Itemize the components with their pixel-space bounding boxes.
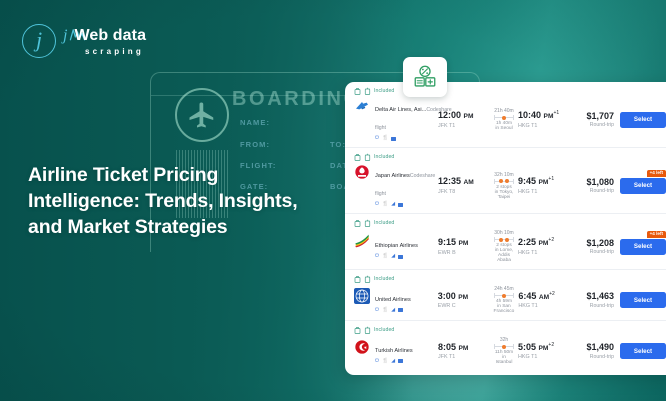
action-cell: +4 leftSelect	[620, 239, 666, 255]
stop-dot	[499, 179, 503, 183]
amenities-row: ⏻🍴◢	[375, 308, 411, 313]
route-bar	[494, 293, 515, 298]
meal-icon: 🍴	[382, 136, 388, 141]
meal-icon: 🍴	[382, 359, 388, 364]
seats-left-badge: +4 left	[647, 170, 666, 178]
wifi-icon: ◢	[391, 359, 395, 364]
arrival-day-offset: +1	[548, 176, 554, 182]
video-icon	[398, 203, 403, 207]
departure-airport: JFK T8	[438, 189, 490, 195]
power-icon: ⏻	[375, 308, 379, 313]
flight-duration: 24h 45m	[494, 286, 515, 292]
stop-dot	[502, 345, 506, 349]
included-label: Included	[374, 327, 394, 333]
seats-left-badge: +4 left	[647, 231, 666, 239]
arrival-ampm: PM	[539, 345, 549, 352]
price-cell: $1,463Round-trip	[570, 291, 620, 308]
flight-duration: 30h 10m	[494, 230, 514, 236]
logo-wordmark: j Web data scraping	[63, 27, 146, 56]
jal-logo-icon	[354, 164, 370, 180]
airline-name: Turkish Airlines	[375, 348, 413, 354]
logo-secondary-text: scraping	[85, 48, 146, 56]
trip-type: Round-trip	[570, 354, 614, 360]
arrival-day-offset: +2	[548, 342, 554, 348]
action-cell: +4 leftSelect	[620, 178, 666, 194]
amenities-row: ⏻🍴◢	[375, 359, 413, 364]
departure-ampm: PM	[459, 345, 469, 352]
arrival-cell: 6:45 AM+2HKG T1	[518, 291, 570, 309]
stop-dot	[505, 179, 509, 183]
stop-dot	[502, 116, 506, 120]
baggage-included-line: Included	[354, 326, 666, 334]
select-button[interactable]: Select	[620, 239, 666, 255]
price-amount: $1,707	[570, 111, 614, 121]
airline-cell: Delta Air Lines, Asi...Codeshare flight⏻…	[354, 98, 438, 141]
arrival-day-offset: +2	[548, 237, 554, 243]
united-logo-icon	[354, 288, 370, 304]
route-bar	[494, 237, 514, 242]
route-bar	[494, 344, 514, 349]
arrival-time: 2:25 PM+2	[518, 237, 570, 248]
airline-name: Ethiopian Airlines	[375, 243, 418, 249]
select-button[interactable]: Select	[620, 178, 666, 194]
stops-detail: 2 stops in Tokyo, Taipei	[494, 185, 514, 200]
stops-detail: 4h 59m in San Francisco	[494, 299, 515, 314]
departure-time: 12:00 PM	[438, 110, 490, 121]
calculator-glyph	[412, 64, 438, 90]
meal-icon: 🍴	[382, 202, 388, 207]
airline-name: United Airlines	[375, 297, 411, 303]
checked-bag-icon	[364, 219, 371, 227]
flight-row[interactable]: IncludedJapan AirlinesCodeshare flight⏻🍴…	[345, 148, 666, 214]
departure-cell: 3:00 PMEWR C	[438, 291, 490, 309]
carryon-bag-icon	[354, 326, 361, 334]
departure-ampm: PM	[459, 240, 469, 247]
amenities-row: ⏻🍴	[375, 136, 438, 141]
trip-type: Round-trip	[570, 303, 614, 309]
action-cell: Select	[620, 112, 666, 128]
wifi-icon: ◢	[391, 308, 395, 313]
carryon-bag-icon	[354, 219, 361, 227]
arrival-airport: HKG T1	[518, 189, 570, 195]
departure-ampm: PM	[458, 294, 468, 301]
included-label: Included	[374, 220, 394, 226]
video-icon	[398, 255, 403, 259]
departure-airport: JFK T1	[438, 123, 490, 129]
checked-bag-icon	[364, 87, 371, 95]
flight-results-panel[interactable]: IncludedDelta Air Lines, Asi...Codeshare…	[345, 82, 666, 375]
airline-cell: United Airlines⏻🍴◢	[354, 288, 438, 313]
brand-logo[interactable]: j j Web data scraping	[22, 24, 146, 58]
departure-cell: 8:05 PMJFK T1	[438, 342, 490, 360]
duration-cell: 30h 10m2 stops in Lome, Addis Ababa	[490, 230, 518, 263]
flight-row[interactable]: IncludedDelta Air Lines, Asi...Codeshare…	[345, 82, 666, 148]
stops-detail: 2 stops in Lome, Addis Ababa	[494, 243, 514, 263]
trip-type: Round-trip	[570, 122, 614, 128]
baggage-included-line: Included	[354, 219, 666, 227]
arrival-ampm: AM	[539, 294, 549, 301]
arrival-time: 9:45 PM+1	[518, 176, 570, 187]
select-button[interactable]: Select	[620, 292, 666, 308]
checked-bag-icon	[364, 326, 371, 334]
route-bar	[494, 179, 514, 184]
video-icon	[398, 308, 403, 312]
departure-time: 3:00 PM	[438, 291, 490, 302]
arrival-cell: 2:25 PM+2HKG T1	[518, 237, 570, 255]
arrival-airport: HKG T1	[518, 250, 570, 256]
page-title: Airline Ticket Pricing Intelligence: Tre…	[28, 163, 328, 241]
departure-time: 9:15 PM	[438, 237, 490, 248]
departure-airport: JFK T1	[438, 354, 490, 360]
arrival-day-offset: +2	[549, 291, 555, 297]
departure-airport: EWR C	[438, 303, 490, 309]
stop-dot	[499, 238, 503, 242]
checked-bag-icon	[364, 153, 371, 161]
price-cell: $1,208Round-trip	[570, 238, 620, 255]
power-icon: ⏻	[375, 136, 379, 141]
duration-cell: 32h11h 50m in Istanbul	[490, 337, 518, 365]
arrival-airport: HKG T1	[518, 303, 570, 309]
logo-secondary-j-icon: j	[63, 28, 67, 44]
amenities-row: ⏻🍴◢	[375, 254, 418, 259]
price-amount: $1,080	[570, 177, 614, 187]
power-icon: ⏻	[375, 254, 379, 259]
arrival-ampm: PM	[544, 113, 554, 120]
action-cell: Select	[620, 292, 666, 308]
flight-duration: 32h 10m	[494, 172, 514, 178]
carryon-bag-icon	[354, 87, 361, 95]
price-cell: $1,707Round-trip	[570, 111, 620, 128]
price-cell: $1,490Round-trip	[570, 342, 620, 359]
trip-type: Round-trip	[570, 249, 614, 255]
amenities-row: ⏻🍴◢	[375, 202, 438, 207]
arrival-cell: 9:45 PM+1HKG T1	[518, 176, 570, 194]
baggage-included-line: Included	[354, 275, 666, 283]
arrival-day-offset: +1	[553, 110, 559, 116]
ethiopian-logo-icon	[354, 234, 370, 250]
baggage-included-line: Included	[354, 153, 666, 161]
arrival-cell: 10:40 PM+1HKG T1	[518, 110, 570, 128]
airline-cell: Ethiopian Airlines⏻🍴◢	[354, 234, 438, 259]
included-label: Included	[374, 154, 394, 160]
stop-dot	[502, 294, 506, 298]
trip-type: Round-trip	[570, 188, 614, 194]
stop-dot	[505, 238, 509, 242]
departure-cell: 12:00 PMJFK T1	[438, 110, 490, 128]
stops-detail: 11h 50m in Istanbul	[494, 350, 514, 365]
carryon-bag-icon	[354, 153, 361, 161]
flight-row[interactable]: IncludedUnited Airlines⏻🍴◢3:00 PMEWR C24…	[345, 270, 666, 321]
duration-cell: 32h 10m2 stops in Tokyo, Taipei	[490, 172, 518, 200]
select-button[interactable]: Select	[620, 112, 666, 128]
video-icon	[398, 359, 403, 363]
flight-row[interactable]: IncludedEthiopian Airlines⏻🍴◢9:15 PMEWR …	[345, 214, 666, 270]
arrival-airport: HKG T1	[518, 354, 570, 360]
meal-icon: 🍴	[382, 308, 388, 313]
arrival-ampm: PM	[539, 179, 549, 186]
video-icon	[391, 137, 396, 141]
arrival-airport: HKG T1	[518, 123, 570, 129]
arrival-time: 6:45 AM+2	[518, 291, 570, 302]
departure-cell: 12:35 AMJFK T8	[438, 176, 490, 194]
flight-row[interactable]: IncludedTurkish Airlines⏻🍴◢8:05 PMJFK T1…	[345, 321, 666, 371]
stops-detail: 1h 40m in Seoul	[494, 121, 514, 131]
price-amount: $1,463	[570, 291, 614, 301]
duration-cell: 21h 40m1h 40m in Seoul	[490, 108, 518, 131]
departure-ampm: PM	[464, 113, 474, 120]
baggage-included-line: Included	[354, 87, 666, 95]
calculator-percent-icon	[403, 57, 447, 97]
arrival-time: 5:05 PM+2	[518, 342, 570, 353]
price-cell: $1,080Round-trip	[570, 177, 620, 194]
power-icon: ⏻	[375, 202, 379, 207]
arrival-cell: 5:05 PM+2HKG T1	[518, 342, 570, 360]
airline-cell: Japan AirlinesCodeshare flight⏻🍴◢	[354, 164, 438, 207]
flight-duration: 21h 40m	[494, 108, 514, 114]
wifi-icon: ◢	[391, 254, 395, 259]
carryon-bag-icon	[354, 275, 361, 283]
airline-cell: Turkish Airlines⏻🍴◢	[354, 339, 438, 364]
meal-icon: 🍴	[382, 254, 388, 259]
airline-name: Delta Air Lines, Asi...	[375, 107, 426, 113]
departure-ampm: AM	[464, 179, 474, 186]
checked-bag-icon	[364, 275, 371, 283]
turkish-logo-icon	[354, 339, 370, 355]
route-bar	[494, 115, 514, 120]
departure-time: 8:05 PM	[438, 342, 490, 353]
departure-cell: 9:15 PMEWR B	[438, 237, 490, 255]
airline-name: Japan Airlines	[375, 173, 410, 179]
departure-airport: EWR B	[438, 250, 490, 256]
delta-logo-icon	[354, 98, 370, 114]
price-amount: $1,490	[570, 342, 614, 352]
included-label: Included	[374, 276, 394, 282]
arrival-time: 10:40 PM+1	[518, 110, 570, 121]
logo-circle-j-icon: j	[22, 24, 56, 58]
action-cell: Select	[620, 343, 666, 359]
price-amount: $1,208	[570, 238, 614, 248]
included-label: Included	[374, 88, 394, 94]
departure-time: 12:35 AM	[438, 176, 490, 187]
duration-cell: 24h 45m4h 59m in San Francisco	[490, 286, 519, 314]
logo-primary-text: Web data	[74, 28, 146, 44]
flight-duration: 32h	[494, 337, 514, 343]
logo-mark-letter: j	[36, 29, 42, 51]
wifi-icon: ◢	[391, 202, 395, 207]
arrival-ampm: PM	[539, 240, 549, 247]
power-icon: ⏻	[375, 359, 379, 364]
select-button[interactable]: Select	[620, 343, 666, 359]
